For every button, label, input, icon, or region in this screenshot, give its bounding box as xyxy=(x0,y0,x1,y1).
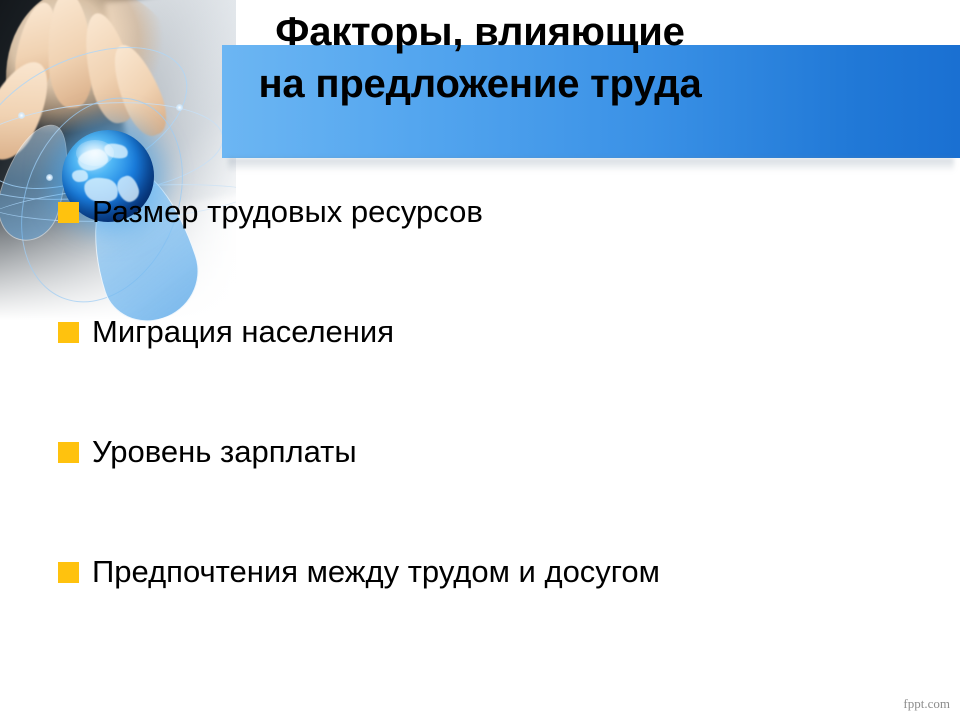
bullet-square-icon xyxy=(58,322,79,343)
orbit-node-icon xyxy=(46,174,53,181)
bullet-square-icon xyxy=(58,562,79,583)
globe-landmass xyxy=(72,170,88,182)
list-item: Предпочтения между трудом и досугом xyxy=(58,550,938,670)
list-item: Уровень зарплаты xyxy=(58,430,938,550)
bullet-list: Размер трудовых ресурсов Миграция населе… xyxy=(58,190,938,670)
list-item: Миграция населения xyxy=(58,310,938,430)
page-title-line-1: Факторы, влияющие xyxy=(275,10,684,54)
page-title: Факторы, влияющие на предложение труда xyxy=(0,6,960,110)
list-item-label: Миграция населения xyxy=(92,310,394,354)
list-item: Размер трудовых ресурсов xyxy=(58,190,938,310)
bullet-square-icon xyxy=(58,442,79,463)
globe-highlight xyxy=(76,140,114,166)
bullet-square-icon xyxy=(58,202,79,223)
title-banner-shadow xyxy=(228,158,954,172)
list-item-label: Уровень зарплаты xyxy=(92,430,357,474)
slide-canvas: Факторы, влияющие на предложение труда Р… xyxy=(0,0,960,720)
watermark: fppt.com xyxy=(903,696,950,712)
list-item-label: Размер трудовых ресурсов xyxy=(92,190,483,234)
orbit-node-icon xyxy=(18,112,25,119)
page-title-line-2: на предложение труда xyxy=(0,58,960,110)
list-item-label: Предпочтения между трудом и досугом xyxy=(92,550,660,594)
